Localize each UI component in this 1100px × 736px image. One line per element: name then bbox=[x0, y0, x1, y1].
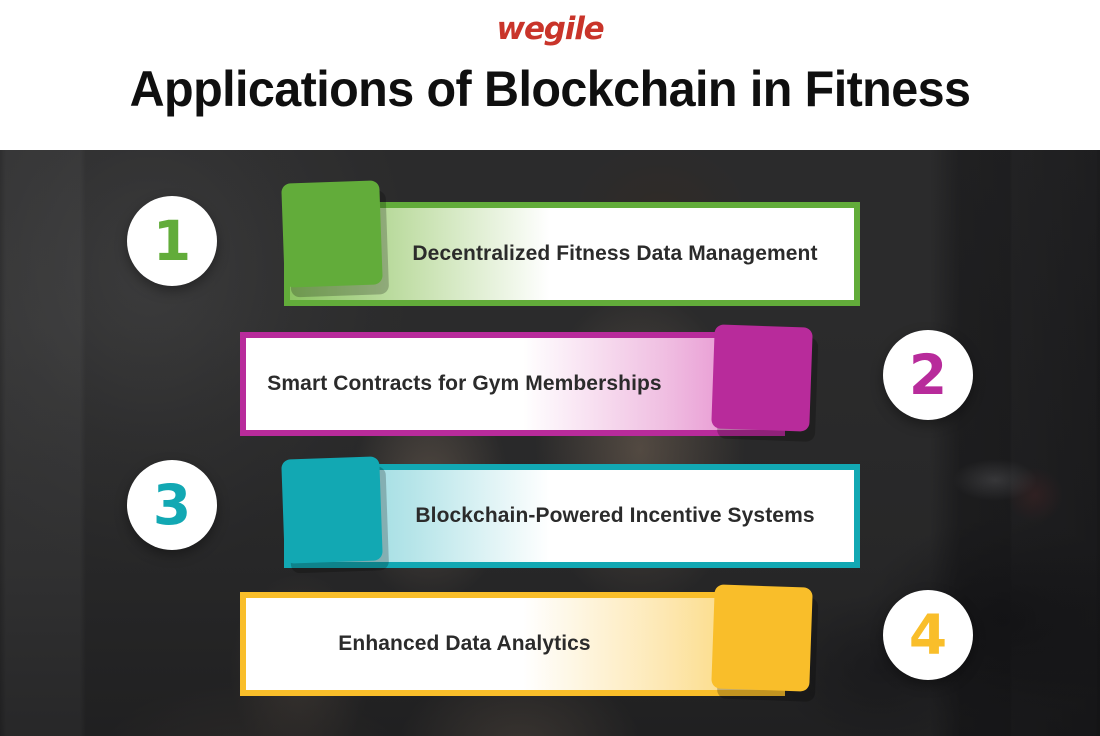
item-label-2: Smart Contracts for Gym Memberships bbox=[246, 372, 779, 396]
step-number-badge-4[interactable]: 4 bbox=[883, 590, 973, 680]
infographic-poster: wegile Applications of Blockchain in Fit… bbox=[0, 0, 1100, 736]
item-label-4: Enhanced Data Analytics bbox=[246, 632, 779, 656]
accent-square-1 bbox=[281, 180, 383, 287]
list-item: 2 Smart Contracts for Gym Memberships bbox=[0, 312, 1100, 442]
list-item: 3 Blockchain-Powered Incentive Systems bbox=[0, 442, 1100, 572]
step-number-badge-3[interactable]: 3 bbox=[127, 460, 217, 550]
wegile-logo: wegile bbox=[0, 14, 1100, 45]
step-number-badge-1[interactable]: 1 bbox=[127, 196, 217, 286]
accent-square-3 bbox=[281, 456, 383, 563]
step-number-badge-2[interactable]: 2 bbox=[883, 330, 973, 420]
accent-square-2 bbox=[711, 324, 813, 431]
item-card-4[interactable]: Enhanced Data Analytics bbox=[240, 592, 785, 696]
list-item: 4 Enhanced Data Analytics bbox=[0, 572, 1100, 702]
list-item: 1 Decentralized Fitness Data Management bbox=[0, 182, 1100, 312]
item-card-2[interactable]: Smart Contracts for Gym Memberships bbox=[240, 332, 785, 436]
header-bar: wegile Applications of Blockchain in Fit… bbox=[0, 0, 1100, 150]
page-title: Applications of Blockchain in Fitness bbox=[17, 62, 1084, 117]
accent-square-4 bbox=[711, 584, 813, 691]
